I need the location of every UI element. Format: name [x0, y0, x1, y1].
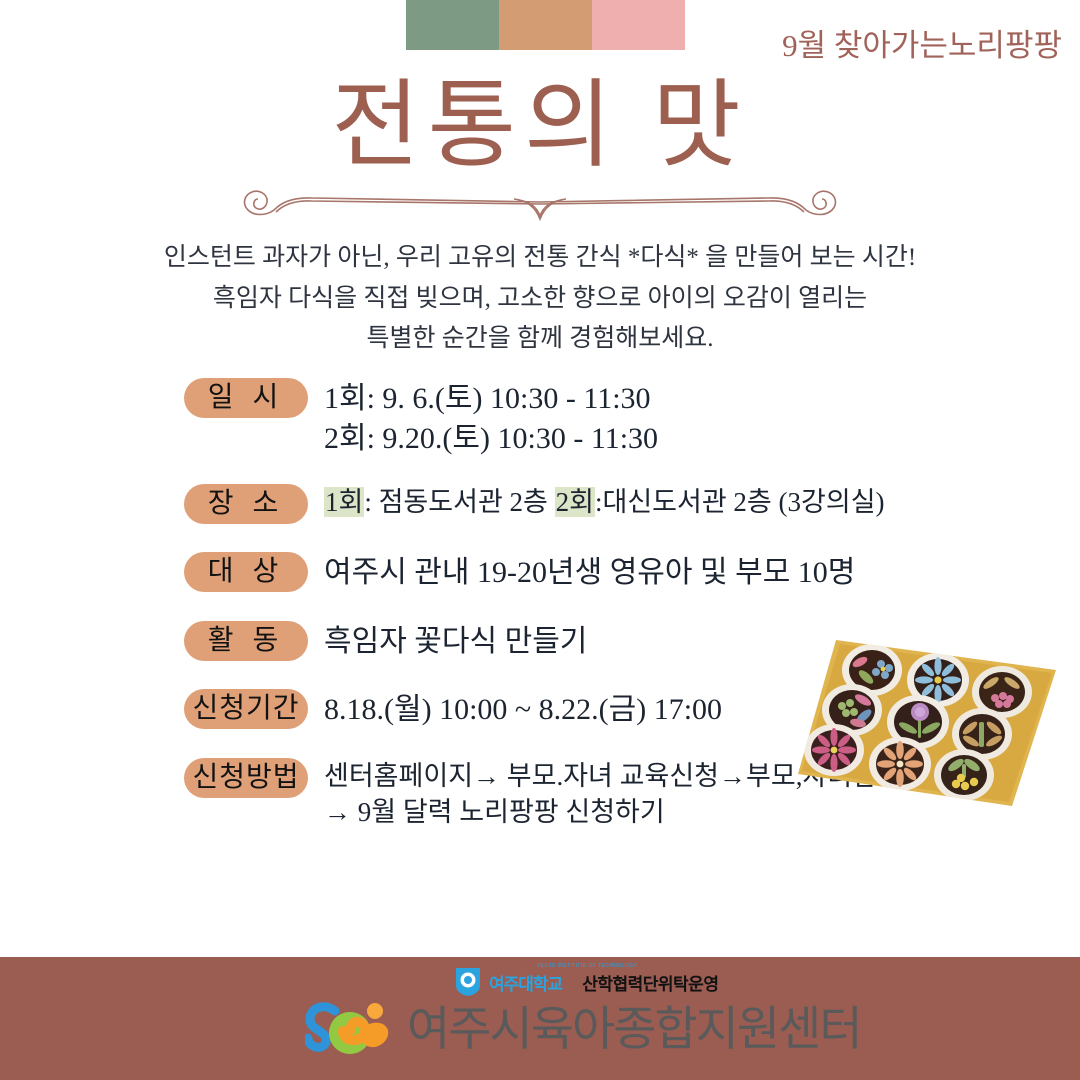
datetime-session-1: 1회: 9. 6.(토) 10:30 - 11:30: [324, 379, 658, 419]
soi-logo-icon: [305, 997, 401, 1059]
location-session-2-badge: 2회: [555, 487, 595, 517]
university-english-name: YEOJU INSTITUTE OF TECHNOLOGY: [537, 963, 637, 969]
datetime-session-2: 2회: 9.20.(토) 10:30 - 11:30: [324, 419, 658, 459]
detail-row-audience: 대 상 여주시 관내 19-20년생 영유아 및 부모 10명: [184, 552, 1064, 593]
color-bar-tan: [499, 0, 592, 50]
poster-title-block: 전통의 맛: [0, 72, 1080, 180]
page-title: 전통의 맛: [0, 72, 1080, 180]
detail-row-location: 장 소 1회: 점동도서관 2층 2회:대신도서관 2층 (3강의실): [184, 484, 1064, 524]
dasik-tray-image: [790, 634, 1060, 812]
university-korean-name: 여주대학교: [489, 975, 562, 994]
label-application-period: 신청기간: [184, 689, 308, 729]
value-datetime: 1회: 9. 6.(토) 10:30 - 11:30 2회: 9.20.(토) …: [324, 378, 658, 458]
university-affiliation: YEOJU INSTITUTE OF TECHNOLOGY 여주대학교 산학협력…: [455, 965, 718, 999]
top-color-bars: [406, 0, 685, 50]
detail-row-datetime: 일 시 1회: 9. 6.(토) 10:30 - 11:30 2회: 9.20.…: [184, 378, 1064, 458]
label-audience: 대 상: [184, 552, 308, 592]
ornamental-divider: [0, 178, 1080, 224]
location-session-1-text: : 점동도서관 2층: [364, 487, 554, 517]
value-audience: 여주시 관내 19-20년생 영유아 및 부모 10명: [324, 552, 855, 593]
location-session-1-badge: 1회: [324, 487, 364, 517]
label-datetime: 일 시: [184, 378, 308, 418]
description-line-1: 인스턴트 과자가 아닌, 우리 고유의 전통 간식 *다식* 을 만들어 보는 …: [0, 238, 1080, 279]
university-shield-icon: [455, 967, 481, 997]
label-location: 장 소: [184, 484, 308, 524]
center-branding: 여주시육아종합지원센터: [305, 997, 861, 1059]
description-line-2: 흑임자 다식을 직접 빚으며, 고소한 향으로 아이의 오감이 열리는: [0, 279, 1080, 320]
footer-content: YEOJU INSTITUTE OF TECHNOLOGY 여주대학교 산학협력…: [0, 957, 1080, 1080]
footer-bar: YEOJU INSTITUTE OF TECHNOLOGY 여주대학교 산학협력…: [0, 957, 1080, 1080]
value-application-period: 8.18.(월) 10:00 ~ 8.22.(금) 17:00: [324, 689, 722, 730]
label-application-method: 신청방법: [184, 758, 308, 798]
location-session-2-text: :대신도서관 2층 (3강의실): [595, 487, 885, 517]
description-line-3: 특별한 순간을 함께 경험해보세요.: [0, 319, 1080, 360]
value-location: 1회: 점동도서관 2층 2회:대신도서관 2층 (3강의실): [324, 484, 885, 521]
event-description: 인스턴트 과자가 아닌, 우리 고유의 전통 간식 *다식* 을 만들어 보는 …: [0, 238, 1080, 360]
value-activity: 흑임자 꽃다식 만들기: [324, 621, 587, 662]
university-operation-note: 산학협력단위탁운영: [582, 970, 718, 995]
program-series-label: 9월 찾아가는노리팡팡: [782, 20, 1062, 65]
flourish-icon: [230, 178, 850, 224]
color-bar-green: [406, 0, 499, 50]
label-activity: 활 동: [184, 621, 308, 661]
center-name-label: 여주시육아종합지원센터: [407, 1005, 861, 1052]
dasik-photo: [790, 634, 1060, 812]
color-bar-pink: [592, 0, 685, 50]
